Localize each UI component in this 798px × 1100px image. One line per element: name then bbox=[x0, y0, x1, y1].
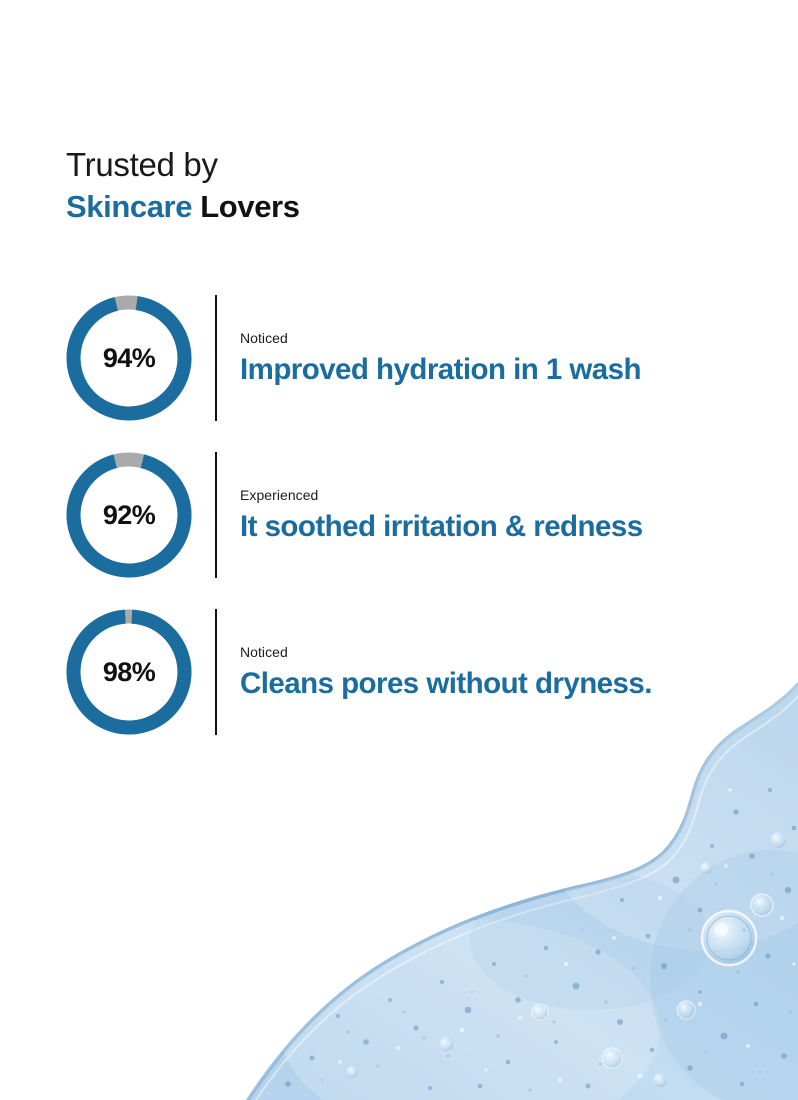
stat-headline: It soothed irritation & redness bbox=[240, 510, 766, 544]
stat-copy: Noticed Improved hydration in 1 wash bbox=[217, 329, 766, 386]
page-title-line-1: Trusted by bbox=[66, 146, 666, 185]
donut-value-label: 98% bbox=[66, 609, 192, 735]
page-title-rest: Lovers bbox=[192, 189, 299, 224]
page-title: Trusted by Skincare Lovers bbox=[66, 146, 666, 226]
stat-row: 98% Noticed Cleans pores without dryness… bbox=[66, 609, 766, 735]
stat-copy: Experienced It soothed irritation & redn… bbox=[217, 486, 766, 543]
stat-copy: Noticed Cleans pores without dryness. bbox=[217, 643, 766, 700]
stat-headline: Improved hydration in 1 wash bbox=[240, 353, 766, 387]
donut-chart-98: 98% bbox=[66, 609, 192, 735]
stat-eyebrow: Noticed bbox=[240, 643, 766, 661]
donut-value-label: 92% bbox=[66, 452, 192, 578]
donut-chart-94: 94% bbox=[66, 295, 192, 421]
stat-row: 92% Experienced It soothed irritation & … bbox=[66, 452, 766, 578]
donut-chart-92: 92% bbox=[66, 452, 192, 578]
stat-eyebrow: Experienced bbox=[240, 486, 766, 504]
stat-eyebrow: Noticed bbox=[240, 329, 766, 347]
promo-page: Trusted by Skincare Lovers 94% Noticed I… bbox=[0, 0, 798, 1100]
donut-value-label: 94% bbox=[66, 295, 192, 421]
page-title-line-2: Skincare Lovers bbox=[66, 188, 666, 226]
stat-headline: Cleans pores without dryness. bbox=[240, 667, 766, 701]
stat-row: 94% Noticed Improved hydration in 1 wash bbox=[66, 295, 766, 421]
page-title-accent: Skincare bbox=[66, 189, 192, 224]
